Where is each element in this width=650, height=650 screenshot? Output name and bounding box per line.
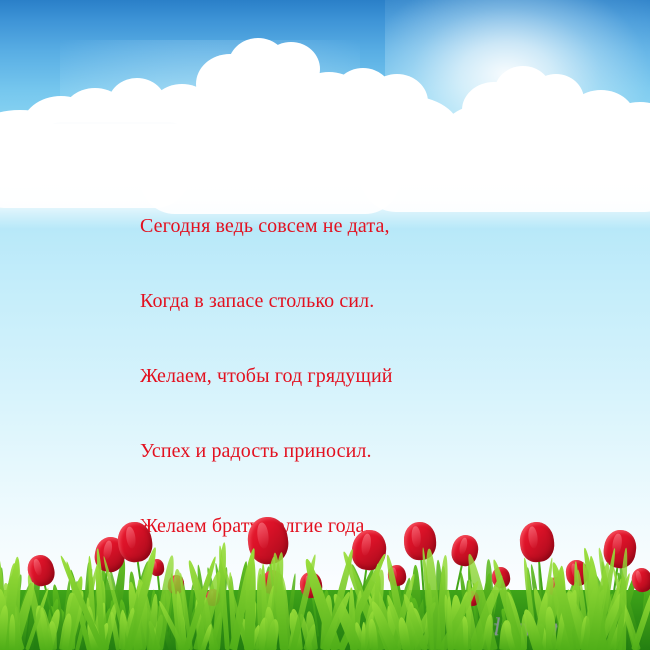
greeting-card: Сегодня ведь совсем не дата, Когда в зап… bbox=[0, 0, 650, 650]
grass-blade bbox=[9, 614, 16, 650]
tulip-bud bbox=[449, 533, 481, 568]
verse-line: Когда в запасе столько сил. bbox=[140, 289, 560, 314]
tulip-bud bbox=[349, 528, 388, 572]
verse-line: Сегодня ведь совсем не дата, bbox=[140, 214, 560, 239]
tulip-flower bbox=[449, 533, 481, 568]
verse-line: Желаем, чтобы год грядущий bbox=[140, 364, 560, 389]
verse-line: Успех и радость приносил. bbox=[140, 439, 560, 464]
tulip-flower bbox=[349, 528, 388, 572]
meadow bbox=[0, 505, 650, 650]
